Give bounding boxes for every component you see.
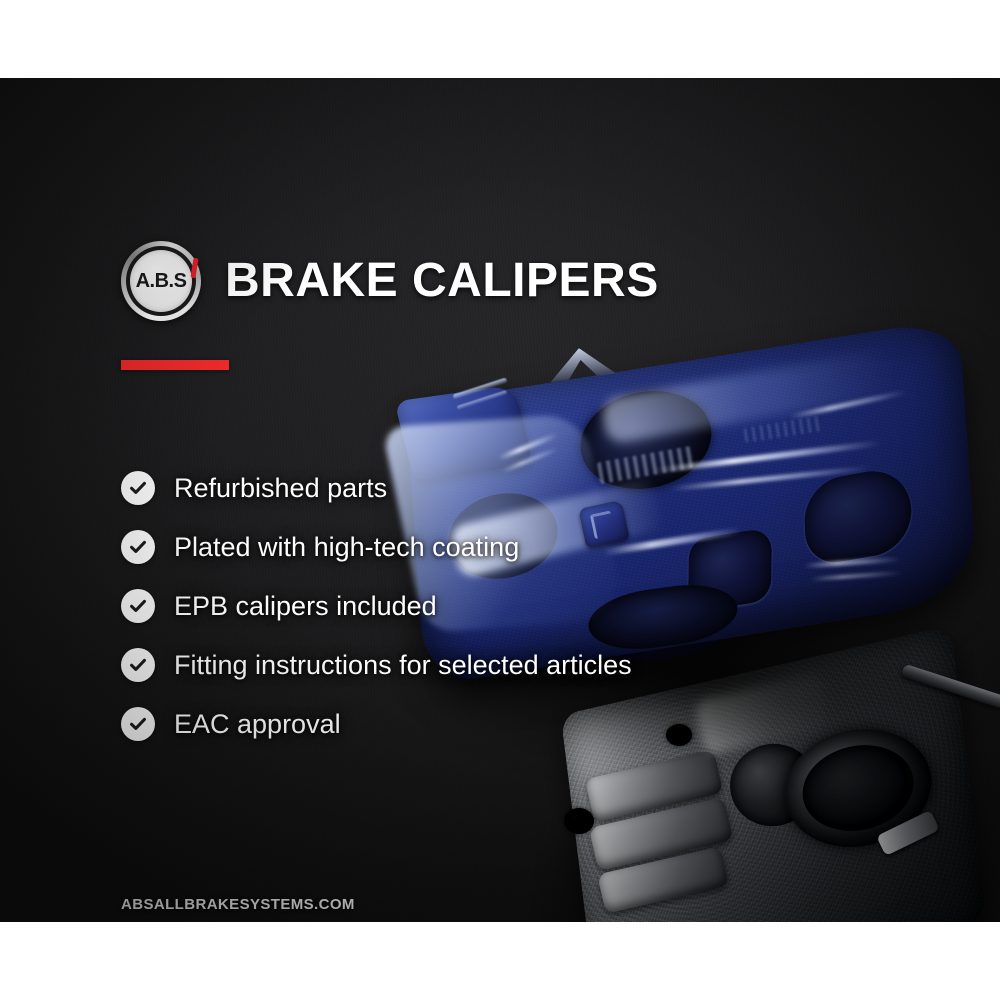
- check-circle-icon: [121, 530, 155, 564]
- check-circle-icon: [121, 707, 155, 741]
- page-title: BRAKE CALIPERS: [225, 257, 659, 305]
- feature-label: Fitting instructions for selected articl…: [174, 652, 632, 679]
- feature-label: Refurbished parts: [174, 475, 387, 502]
- feature-label: EPB calipers included: [174, 593, 437, 620]
- red-accent-rule: [121, 360, 229, 370]
- abs-roundel-logo: A.B.S: [121, 241, 201, 321]
- logo-disc: A.B.S: [130, 250, 192, 312]
- banner-header: A.B.S BRAKE CALIPERS: [121, 241, 659, 321]
- feature-item: Refurbished parts: [121, 471, 632, 505]
- feature-label: EAC approval: [174, 711, 341, 738]
- feature-item: Fitting instructions for selected articl…: [121, 648, 632, 682]
- footer-website-url: ABSALLBRAKESYSTEMS.COM: [121, 896, 355, 913]
- logo-wordmark: A.B.S: [136, 271, 187, 291]
- check-circle-icon: [121, 589, 155, 623]
- feature-item: EPB calipers included: [121, 589, 632, 623]
- feature-list: Refurbished parts Plated with high-tech …: [121, 471, 632, 741]
- check-circle-icon: [121, 471, 155, 505]
- feature-label: Plated with high-tech coating: [174, 534, 519, 561]
- promo-banner-page: A.B.S BRAKE CALIPERS Refurbished parts: [0, 0, 1000, 1000]
- feature-item: EAC approval: [121, 707, 632, 741]
- feature-item: Plated with high-tech coating: [121, 530, 632, 564]
- content-layer: A.B.S BRAKE CALIPERS Refurbished parts: [0, 78, 1000, 922]
- dark-banner: A.B.S BRAKE CALIPERS Refurbished parts: [0, 78, 1000, 922]
- check-circle-icon: [121, 648, 155, 682]
